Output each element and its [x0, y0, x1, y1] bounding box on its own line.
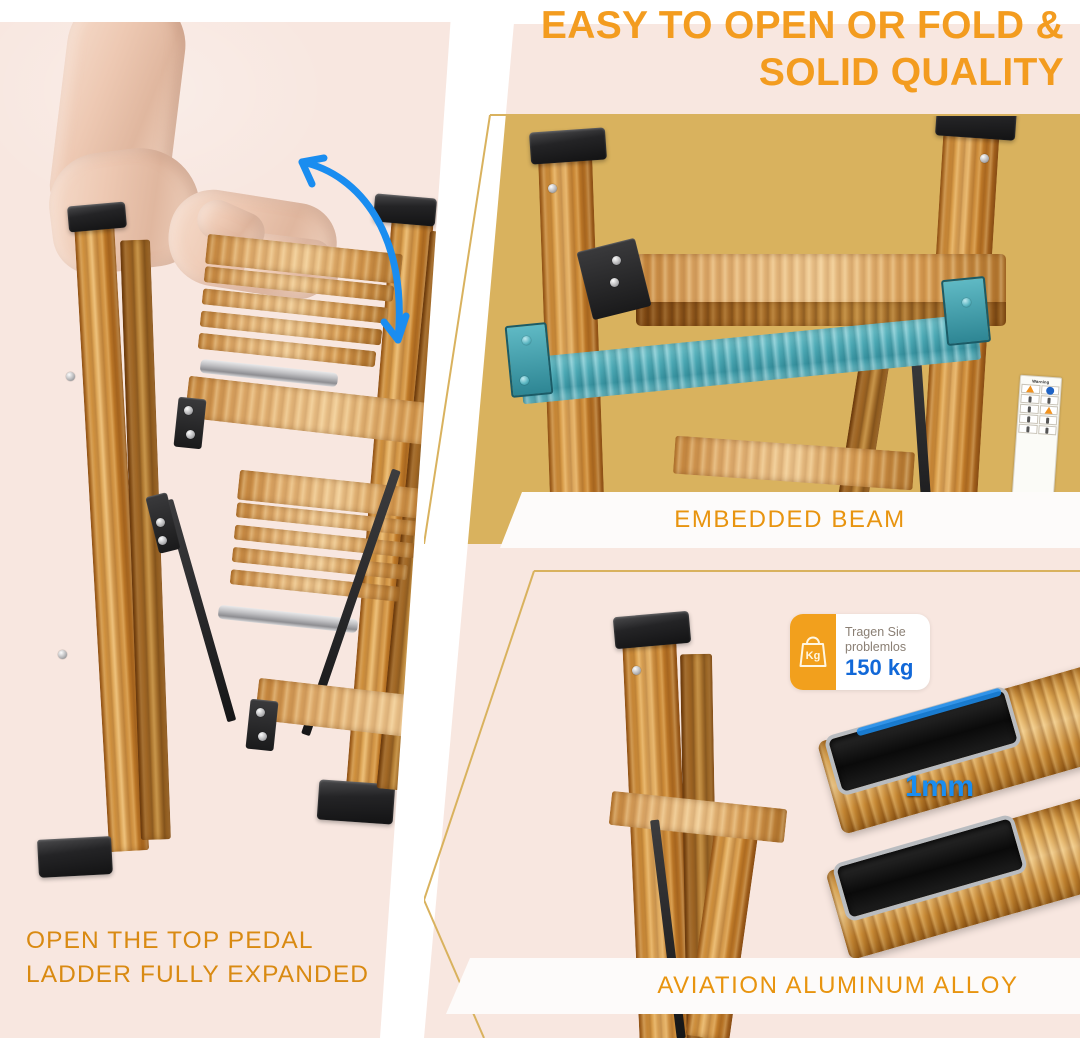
warning-pictogram [1038, 415, 1057, 425]
beam-rivet-right [980, 154, 989, 163]
page-headline: EASY TO OPEN OR FOLD & SOLID QUALITY [400, 2, 1064, 96]
rivet-brace-a [156, 518, 165, 527]
warning-pictogram [1019, 414, 1038, 424]
warning-pictogram [1020, 404, 1039, 414]
weight-bag-icon: Kg [798, 635, 828, 669]
beam-panel-cap-left [529, 127, 607, 164]
warning-pictogram-triangle [1039, 405, 1058, 415]
rivet-lower-left-b [258, 732, 267, 741]
warning-sticker: Warning [1012, 375, 1062, 498]
embedded-beam-endcap-left [505, 322, 554, 398]
weight-capacity-badge: Kg Tragen Sie problemlos 150 kg [790, 614, 930, 690]
weight-badge-description: Tragen Sie problemlos [845, 625, 923, 655]
warning-pictogram [1018, 424, 1037, 434]
rivet-lower-left-a [256, 708, 265, 717]
alloy-panel-cap-left [613, 611, 691, 650]
warning-pictogram [1020, 394, 1039, 404]
embedded-beam-rivet-left-b [520, 376, 529, 385]
alloy-rivet-left [632, 666, 641, 675]
product-infographic: EASY TO OPEN OR FOLD & SOLID QUALITY [0, 0, 1080, 1038]
caption-band-embedded-beam: EMBEDDED BEAM [500, 492, 1080, 548]
rail-cap-front-left [67, 202, 127, 233]
rivet-upper-left-b [186, 430, 195, 439]
cross-rail-lower-bracket-left [245, 699, 278, 752]
caption-band-aviation-alloy: AVIATION ALUMINUM ALLOY [446, 958, 1080, 1014]
panel-embedded-beam: Warning [424, 114, 1080, 544]
warning-pictogram [1040, 395, 1059, 405]
rivet-upper-left-a [184, 406, 193, 415]
cross-rail-upper-bracket-left [173, 397, 206, 450]
weight-badge-icon-panel: Kg [790, 614, 836, 690]
fold-unfold-arrow-icon [280, 140, 440, 390]
rivet-front-left-a [66, 372, 75, 381]
tube-thickness-label: 1mm [905, 770, 974, 804]
embedded-beam-rivet-left-a [522, 336, 531, 345]
warning-pictogram-triangle [1021, 384, 1040, 394]
embedded-beam-endcap-right [941, 276, 991, 346]
beam-panel-lower-step [673, 436, 915, 491]
warning-pictogram [1038, 425, 1057, 435]
foot-cap-front-left [37, 836, 113, 878]
caption-hero: OPEN THE TOP PEDAL LADDER FULLY EXPANDED [26, 924, 406, 992]
beam-rivet-left [548, 184, 557, 193]
svg-text:Kg: Kg [806, 650, 821, 662]
beam-bracket-rivet-a [612, 256, 621, 265]
warning-row [1018, 424, 1057, 436]
rivet-front-left-b [58, 650, 67, 659]
weight-badge-value: 150 kg [845, 656, 923, 680]
warning-pictogram-circle [1040, 385, 1059, 395]
weight-badge-content: Tragen Sie problemlos 150 kg [836, 614, 930, 690]
embedded-beam-rivet-right [962, 298, 971, 307]
rivet-brace-b [158, 536, 167, 545]
beam-bracket-rivet-b [610, 278, 619, 287]
caption-aviation-alloy: AVIATION ALUMINUM ALLOY [657, 972, 1018, 1000]
caption-embedded-beam: EMBEDDED BEAM [674, 506, 906, 534]
